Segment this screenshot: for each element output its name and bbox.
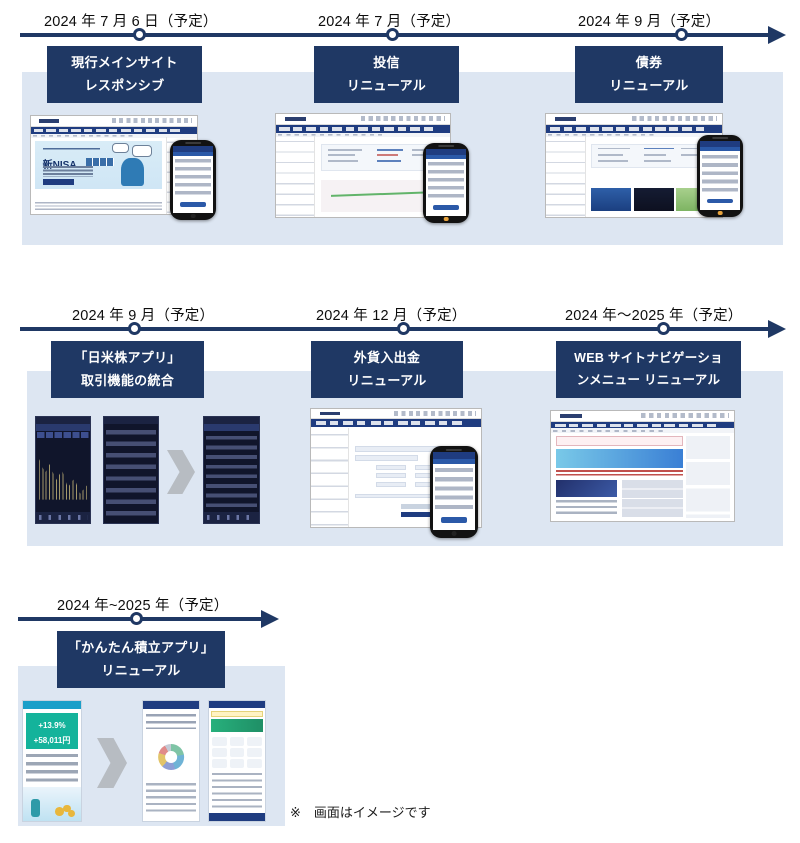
hero-subcopy <box>43 148 100 152</box>
phone-home-button[interactable] <box>452 531 457 536</box>
phone-home-button[interactable] <box>718 211 723 216</box>
form-field-3[interactable] <box>376 465 405 470</box>
phone-home-button[interactable] <box>191 214 196 219</box>
phone-cta-button[interactable] <box>707 199 732 204</box>
row-3-caption-1-line-1: 「かんたん積立アプリ」 <box>68 637 214 660</box>
hero-bubble-1 <box>132 145 152 157</box>
site-logo <box>560 414 582 418</box>
phone-content-lines <box>428 162 464 202</box>
footer-note-lines <box>35 202 162 211</box>
phone-cta-button[interactable] <box>441 517 467 522</box>
transition-chevron-icon <box>167 450 195 494</box>
phone-cta-button[interactable] <box>180 202 205 207</box>
phone-mock <box>170 140 216 220</box>
phone-screen <box>426 149 466 216</box>
transition-chevron-icon <box>97 738 127 788</box>
row-1-date-3: 2024 年 9 月（予定） <box>578 10 720 31</box>
menu-tile-7[interactable] <box>212 759 226 768</box>
utility-links <box>112 118 192 123</box>
phone-sub-nav <box>173 152 213 156</box>
menu-tile-5[interactable] <box>230 748 244 757</box>
hero-bodycopy <box>43 166 94 177</box>
artwork-fund-page <box>275 113 485 223</box>
menu-tile-3[interactable] <box>247 737 261 746</box>
phone-screen <box>433 452 474 529</box>
artwork-savings-app: +13.9% +58,011円 <box>22 700 267 825</box>
phone-screen <box>700 141 740 210</box>
tab-bar[interactable] <box>204 512 259 523</box>
illustration-area <box>23 787 81 821</box>
phone-home-button[interactable] <box>444 217 449 222</box>
row-1-caption-1-line-2: レスポンシブ <box>85 75 165 98</box>
phone-nav-bar <box>433 452 474 459</box>
phone-content-lines <box>435 468 472 514</box>
phone-sub-nav <box>426 155 466 159</box>
form-field-7[interactable] <box>376 482 405 487</box>
status-bar <box>104 417 158 424</box>
campaign-banner[interactable] <box>556 449 682 468</box>
phone-sub-nav <box>700 147 740 151</box>
browser-header <box>551 411 734 422</box>
savings-app-home-screen: +13.9% +58,011円 <box>22 700 82 822</box>
utility-links <box>632 116 716 121</box>
row-2-axis-arrowhead <box>768 320 786 338</box>
row-1-axis-arrowhead <box>768 26 786 44</box>
phone-mock <box>423 143 469 223</box>
gain-amount: +58,011円 <box>26 735 78 746</box>
robot-illustration <box>31 799 40 817</box>
row-3-caption-1: 「かんたん積立アプリ」 リニューアル <box>57 631 225 688</box>
browser-mock <box>550 410 735 522</box>
menu-icon-grid[interactable] <box>212 737 261 768</box>
browser-header <box>311 409 481 419</box>
menu-tile-4[interactable] <box>212 748 226 757</box>
row-2-caption-1-line-1: 「日米株アプリ」 <box>74 347 180 370</box>
row-3-date-1: 2024 年~2025 年（予定） <box>57 594 228 615</box>
artwork-bond-page <box>545 113 760 223</box>
promo-card-1[interactable] <box>591 188 631 211</box>
form-field-2[interactable] <box>355 455 418 461</box>
site-logo <box>285 117 306 121</box>
row-2-caption-2-line-1: 外貨入出金 <box>354 347 421 370</box>
global-nav <box>546 125 722 132</box>
app-nav-bar <box>143 701 199 709</box>
notice-lines <box>556 470 682 477</box>
nisa-hero-banner: 新NISA <box>35 141 162 189</box>
utility-links <box>641 413 729 418</box>
row-2-caption-3-line-1: WEB サイトナビゲーショ <box>574 348 723 370</box>
search-block[interactable] <box>556 500 616 518</box>
browser-header <box>276 114 450 125</box>
summary-lines <box>26 754 77 783</box>
site-logo <box>555 117 576 121</box>
row-3-axis-arrowhead <box>261 610 279 628</box>
utility-links <box>394 411 476 416</box>
footnote: ※ 画面はイメージです <box>290 802 431 821</box>
asset-summary <box>146 714 196 728</box>
performance-card: +13.9% +58,011円 <box>26 713 78 749</box>
row-2-date-2: 2024 年 12 月（予定） <box>316 304 466 325</box>
app-nav-bar <box>23 701 81 709</box>
phone-screen <box>173 146 213 213</box>
coin-3 <box>68 810 75 817</box>
app-nav-bar <box>209 701 265 708</box>
watchlist-rows[interactable] <box>106 430 157 519</box>
global-nav <box>31 127 197 134</box>
browser-body <box>546 136 722 217</box>
asset-allocation-donut-chart <box>158 744 184 770</box>
row-2-caption-3: WEB サイトナビゲーショ ンメニュー リニューアル <box>556 341 741 398</box>
phone-content-lines <box>175 159 211 199</box>
ticker-header <box>36 424 90 430</box>
browser-header <box>546 114 722 125</box>
status-bar <box>204 417 259 424</box>
row-1-caption-2-line-2: リニューアル <box>347 75 426 98</box>
left-menu[interactable] <box>276 136 315 217</box>
row-1-caption-1: 現行メインサイト レスポンシブ <box>47 46 202 103</box>
row-2-date-1: 2024 年 9 月（予定） <box>72 304 214 325</box>
row-2-caption-3-line-2: ンメニュー リニューアル <box>577 370 721 392</box>
row-1-caption-3-line-2: リニューアル <box>609 75 688 98</box>
row-1-caption-2-line-1: 投信 <box>373 52 400 75</box>
browser-header <box>31 116 197 127</box>
order-book-rows <box>206 436 258 510</box>
phone-content-lines <box>702 155 738 196</box>
menu-tile-1[interactable] <box>212 737 226 746</box>
notice-banner <box>211 711 263 717</box>
campaign-banner[interactable] <box>211 719 263 732</box>
site-logo <box>39 119 59 123</box>
utility-links <box>361 116 445 121</box>
artwork-fx-transfer-form <box>310 408 525 548</box>
phone-speaker <box>438 145 454 147</box>
browser-main <box>551 433 734 521</box>
coin-2 <box>55 807 64 816</box>
phone-mock <box>697 135 743 217</box>
row-3-caption-1-line-2: リニューアル <box>101 660 180 683</box>
asset-breakdown-list[interactable] <box>146 783 195 817</box>
row-1-caption-1-line-1: 現行メインサイト <box>71 52 177 75</box>
right-rail[interactable] <box>686 436 730 519</box>
artwork-nisa-top-page: 新NISA <box>30 115 215 220</box>
menu-list-rows[interactable] <box>212 773 262 809</box>
menu-tile-8[interactable] <box>230 759 244 768</box>
savings-app-portfolio-screen <box>142 700 200 822</box>
promo-card-2[interactable] <box>634 188 674 211</box>
menu-tile-2[interactable] <box>230 737 244 746</box>
row-2-caption-1: 「日米株アプリ」 取引機能の統合 <box>51 341 204 398</box>
artwork-trading-app <box>35 410 260 530</box>
phone-mock <box>430 446 478 538</box>
trading-app-integrated-screen <box>203 416 260 524</box>
tab-bar[interactable] <box>36 512 90 523</box>
gain-percent: +13.9% <box>26 721 78 730</box>
hero-illustration-person <box>121 158 144 187</box>
browser-main: 新NISA <box>31 137 166 214</box>
trading-app-chart-screen <box>35 416 91 524</box>
site-logo <box>320 412 340 416</box>
segment-tabs[interactable] <box>204 424 259 430</box>
form-submit-button[interactable] <box>401 512 432 517</box>
trading-app-list-screen <box>103 416 159 524</box>
left-menu[interactable] <box>546 136 586 217</box>
alert-banner <box>556 436 682 447</box>
tab-bar[interactable] <box>209 813 265 821</box>
artwork-site-navigation <box>550 410 740 525</box>
row-2-date-3: 2024 年～2025 年（予定） <box>565 304 742 325</box>
status-bar <box>36 417 90 424</box>
action-chips <box>37 432 89 438</box>
row-2-caption-2: 外貨入出金 リニューアル <box>311 341 463 398</box>
row-1-caption-3-line-1: 債券 <box>636 52 663 75</box>
menu-tile-6[interactable] <box>247 748 261 757</box>
row-2-caption-2-line-2: リニューアル <box>347 370 426 393</box>
global-nav <box>276 125 450 132</box>
menu-tile-9[interactable] <box>247 759 261 768</box>
form-cancel-button[interactable] <box>401 504 432 509</box>
row-2-caption-1-line-2: 取引機能の統合 <box>81 370 174 393</box>
hero-tiles <box>86 158 114 166</box>
phone-speaker <box>446 449 462 451</box>
phone-sub-nav <box>433 459 474 464</box>
row-1-caption-2: 投信 リニューアル <box>314 46 459 103</box>
row-1-date-1: 2024 年 7 月 6 日（予定） <box>44 10 218 31</box>
hero-cta-button[interactable] <box>43 179 75 185</box>
phone-speaker <box>185 142 201 144</box>
global-nav[interactable] <box>551 422 734 429</box>
left-menu[interactable] <box>311 428 349 527</box>
news-list[interactable] <box>622 480 682 519</box>
savings-app-menu-screen <box>208 700 266 822</box>
phone-cta-button[interactable] <box>433 205 458 210</box>
phone-speaker <box>712 137 728 139</box>
row-1-caption-3: 債券 リニューアル <box>575 46 723 103</box>
form-field-5[interactable] <box>376 473 405 478</box>
row-1-date-2: 2024 年 7 月（予定） <box>318 10 460 31</box>
candlestick-chart <box>39 449 87 500</box>
feature-card[interactable] <box>556 480 616 498</box>
browser-body <box>551 433 734 521</box>
global-nav <box>311 419 481 426</box>
hero-bubble-2 <box>112 143 129 153</box>
